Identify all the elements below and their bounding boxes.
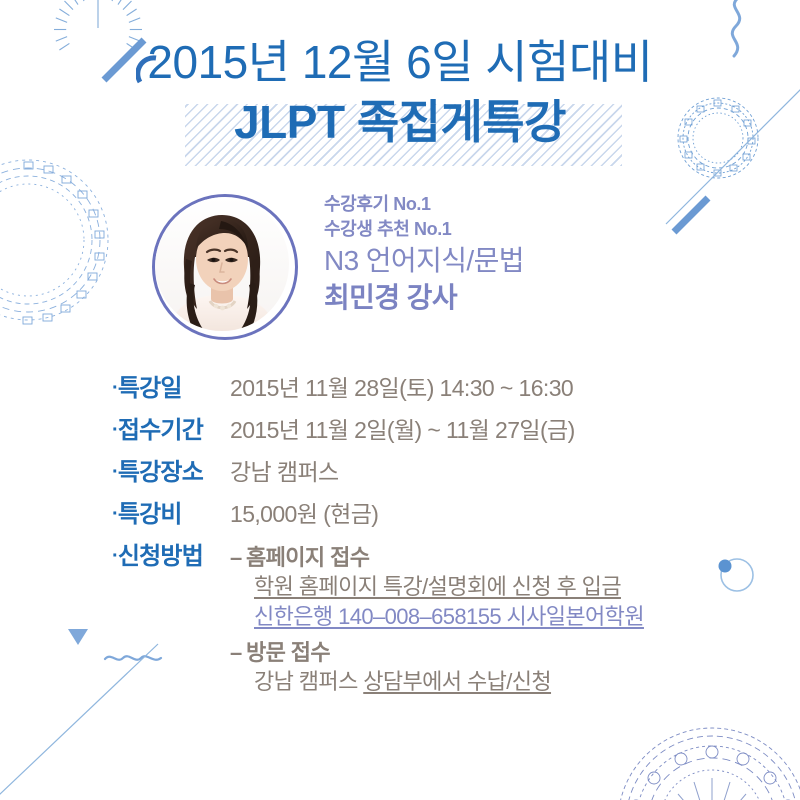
- dash-icon: –: [230, 638, 246, 667]
- instructor-section: 수강후기 No.1 수강생 추천 No.1 N3 언어지식/문법 최민경 강사: [152, 192, 752, 362]
- detail-value: 15,000원 (현금): [230, 500, 378, 529]
- detail-row: ·특강장소 강남 캠퍼스: [112, 458, 772, 488]
- apply-method-2-line-1-underlined: 상담부에서 수납/신청: [363, 669, 551, 694]
- detail-value: 강남 캠퍼스: [230, 458, 339, 487]
- instructor-name: 최민경 강사: [324, 281, 744, 315]
- detail-label-text: 특강비: [118, 501, 182, 528]
- instructor-badge-line-2: 수강생 추천 No.1: [324, 217, 744, 242]
- detail-label-text: 접수기간: [118, 417, 203, 444]
- detail-label: ·접수기간: [112, 416, 230, 446]
- apply-method-1-heading: –홈페이지 접수: [230, 543, 644, 572]
- instructor-badge-line-1: 수강후기 No.1: [324, 192, 744, 217]
- detail-label-text: 특강일: [118, 375, 182, 402]
- detail-value: 2015년 11월 2일(월) ~ 11월 27일(금): [230, 416, 575, 445]
- apply-method-2-heading-text: 방문 접수: [246, 640, 330, 665]
- detail-row: ·특강비 15,000원 (현금): [112, 500, 772, 530]
- details-list: ·특강일 2015년 11월 28일(토) 14:30 ~ 16:30 ·접수기…: [112, 374, 772, 708]
- apply-method-row: ·신청방법 –홈페이지 접수 학원 홈페이지 특강/설명회에 신청 후 입금 신…: [112, 542, 772, 696]
- apply-method-1-heading-text: 홈페이지 접수: [246, 545, 369, 570]
- apply-method-1-line-1: 학원 홈페이지 특강/설명회에 신청 후 입금: [230, 572, 644, 601]
- detail-value: 2015년 11월 28일(토) 14:30 ~ 16:30: [230, 374, 573, 403]
- triangle-down-icon: [66, 627, 90, 647]
- apply-method-1-line-2: 신한은행 140–008–658155 시사일본어학원: [230, 602, 644, 631]
- detail-label: ·특강장소: [112, 458, 230, 488]
- apply-method-label-text: 신청방법: [118, 543, 203, 570]
- apply-method-2-line-1: 강남 캠퍼스 상담부에서 수납/신청: [230, 667, 644, 696]
- poster-canvas: 2015년 12월 6일 시험대비 JLPT 족집게특강: [0, 0, 800, 800]
- detail-label-text: 특강장소: [118, 459, 203, 486]
- page-subtitle: JLPT 족집게특강: [0, 94, 800, 152]
- ring-of-squares-icon: [0, 150, 118, 330]
- instructor-portrait: [155, 197, 289, 331]
- mandala-icon: [612, 722, 800, 800]
- page-title: 2015년 12월 6일 시험대비: [0, 38, 800, 88]
- detail-label: ·특강비: [112, 500, 230, 530]
- apply-method-label: ·신청방법: [112, 542, 230, 572]
- dash-icon: –: [230, 543, 246, 572]
- instructor-subject: N3 언어지식/문법: [324, 244, 744, 278]
- apply-method-2-heading: –방문 접수: [230, 638, 644, 667]
- instructor-text-block: 수강후기 No.1 수강생 추천 No.1 N3 언어지식/문법 최민경 강사: [324, 192, 744, 314]
- detail-label: ·특강일: [112, 374, 230, 404]
- detail-row: ·특강일 2015년 11월 28일(토) 14:30 ~ 16:30: [112, 374, 772, 404]
- detail-row: ·접수기간 2015년 11월 2일(월) ~ 11월 27일(금): [112, 416, 772, 446]
- avatar: [152, 194, 298, 340]
- poster-header: 2015년 12월 6일 시험대비 JLPT 족집게특강: [0, 38, 800, 151]
- apply-method-2-line-1-plain: 강남 캠퍼스: [254, 669, 363, 694]
- apply-method-body: –홈페이지 접수 학원 홈페이지 특강/설명회에 신청 후 입금 신한은행 14…: [230, 542, 644, 696]
